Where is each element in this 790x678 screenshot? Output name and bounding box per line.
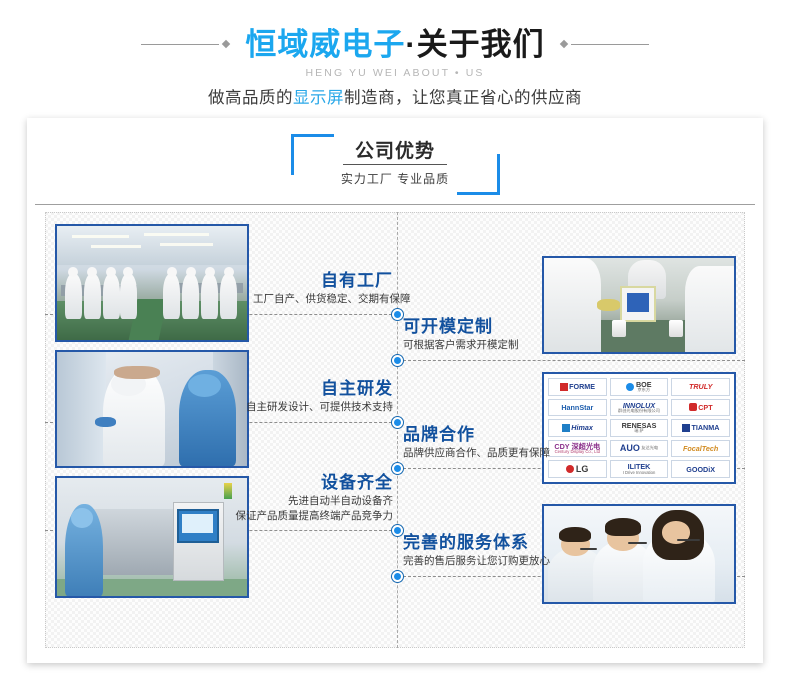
page-title-section: 关于我们 xyxy=(417,27,545,62)
brand-name: TIANMA xyxy=(691,424,719,431)
title-row: 恒域威电子·关于我们 xyxy=(0,24,790,66)
brand-logo-cell: AUO 友达光电 xyxy=(610,440,669,458)
section-divider xyxy=(35,204,755,205)
section-title: 公司优势 xyxy=(27,136,763,163)
slogan-part-2: 制造商，让您真正省心的供应商 xyxy=(344,89,582,107)
header-decor-line-left xyxy=(141,40,231,50)
equipment-photo xyxy=(55,476,249,598)
feature-block-3: 自主研发 自主研发设计、可提供技术支持 xyxy=(233,378,393,415)
brand-logo-cell: CPT xyxy=(671,399,730,417)
about-us-page: 恒域威电子·关于我们 HENG YU WEI ABOUT • US 做高品质的显… xyxy=(0,0,790,678)
brand-logo-cell: FocalTech xyxy=(671,440,730,458)
page-title: 恒域威电子·关于我们 xyxy=(231,24,558,66)
brand-name: GOODiX xyxy=(686,466,715,473)
feature-heading: 设备齐全 xyxy=(223,472,393,494)
brand-logo-cell: TIANMA xyxy=(671,419,730,437)
page-header: 恒域威电子·关于我们 HENG YU WEI ABOUT • US 做高品质的显… xyxy=(0,0,790,115)
brand-subtext: 友达光电 xyxy=(641,446,658,450)
feature-desc: 先进自动半自动设备齐 xyxy=(223,494,393,509)
feature-desc: 保证产品质量提高终端产品竞争力 xyxy=(223,509,393,524)
timeline-node-1 xyxy=(392,309,403,320)
page-title-separator: · xyxy=(405,27,416,62)
timeline-node-6 xyxy=(392,571,403,582)
brand-logo-cell: INNOLUX 群创光电股份有限公司 xyxy=(610,399,669,417)
timeline-spine xyxy=(397,212,398,648)
feature-block-5: 设备齐全 先进自动半自动设备齐 保证产品质量提高终端产品竞争力 xyxy=(223,472,393,524)
brand-logo-cell: FORME xyxy=(548,378,607,396)
feature-heading: 完善的服务体系 xyxy=(403,532,593,554)
brand-name: TRULY xyxy=(689,383,712,390)
brand-subtext: I Drive Innovation xyxy=(623,471,656,475)
feature-block-1: 自有工厂 工厂自产、供货稳定、交期有保障 xyxy=(253,270,393,307)
brand-logo-cell: LG xyxy=(548,460,607,478)
timeline-node-4 xyxy=(392,463,403,474)
brand-name: LG xyxy=(576,465,589,474)
feature-block-4: 品牌合作 品牌供应商合作、品质更有保障 xyxy=(403,424,583,461)
feature-heading: 品牌合作 xyxy=(403,424,583,446)
feature-desc: 品牌供应商合作、品质更有保障 xyxy=(403,446,583,461)
advantages-panel: FORME BOE 京东方 TRULY HannStar INNOLU xyxy=(45,212,745,648)
timeline-node-3 xyxy=(392,417,403,428)
advantages-card: 公司优势 实力工厂 专业品质 xyxy=(27,118,763,663)
page-subtitle-english: HENG YU WEI ABOUT • US xyxy=(0,67,790,79)
header-decor-line-right xyxy=(559,40,649,50)
brand-name: FocalTech xyxy=(683,445,718,452)
section-subtitle: 实力工厂 专业品质 xyxy=(27,170,763,187)
brand-subtext: 群创光电股份有限公司 xyxy=(618,409,660,413)
slogan-highlight: 显示屏 xyxy=(293,89,344,107)
section-heading: 公司优势 实力工厂 专业品质 xyxy=(27,132,763,194)
timeline-node-5 xyxy=(392,525,403,536)
feature-heading: 自有工厂 xyxy=(253,270,393,292)
brand-name: HannStar xyxy=(561,404,593,411)
brand-name: CPT xyxy=(698,404,712,411)
feature-block-6: 完善的服务体系 完善的售后服务让您订购更放心 xyxy=(403,532,593,569)
brand-subtext: 京东方 xyxy=(636,388,652,392)
feature-desc: 自主研发设计、可提供技术支持 xyxy=(233,400,393,415)
connector-right-1 xyxy=(403,360,745,361)
brand-logo-cell: BOE 京东方 xyxy=(610,378,669,396)
brand-logo-cell: GOODiX xyxy=(671,460,730,478)
page-title-brand: 恒域威电子 xyxy=(245,27,405,62)
slogan-part-1: 做高品质的 xyxy=(208,89,293,107)
brand-logo-cell: HannStar xyxy=(548,399,607,417)
feature-block-2: 可开模定制 可根据客户需求开模定制 xyxy=(403,316,573,353)
feature-desc: 可根据客户需求开模定制 xyxy=(403,338,573,353)
brand-name: AUO xyxy=(620,444,640,453)
production-line-photo xyxy=(55,224,249,342)
brand-logo-cell: TRULY xyxy=(671,378,730,396)
rnd-cleanroom-photo xyxy=(55,350,249,468)
brand-logo-cell: ILITEK I Drive Innovation xyxy=(610,460,669,478)
section-title-rule xyxy=(343,164,447,165)
page-slogan: 做高品质的显示屏制造商，让您真正省心的供应商 xyxy=(0,84,790,108)
brand-logo-cell: RENESAS 瑞 萨 xyxy=(610,419,669,437)
feature-heading: 可开模定制 xyxy=(403,316,573,338)
timeline-node-2 xyxy=(392,355,403,366)
feature-desc: 完善的售后服务让您订购更放心 xyxy=(403,554,593,569)
feature-heading: 自主研发 xyxy=(233,378,393,400)
brand-name: FORME xyxy=(569,383,595,390)
feature-desc: 工厂自产、供货稳定、交期有保障 xyxy=(253,292,393,307)
